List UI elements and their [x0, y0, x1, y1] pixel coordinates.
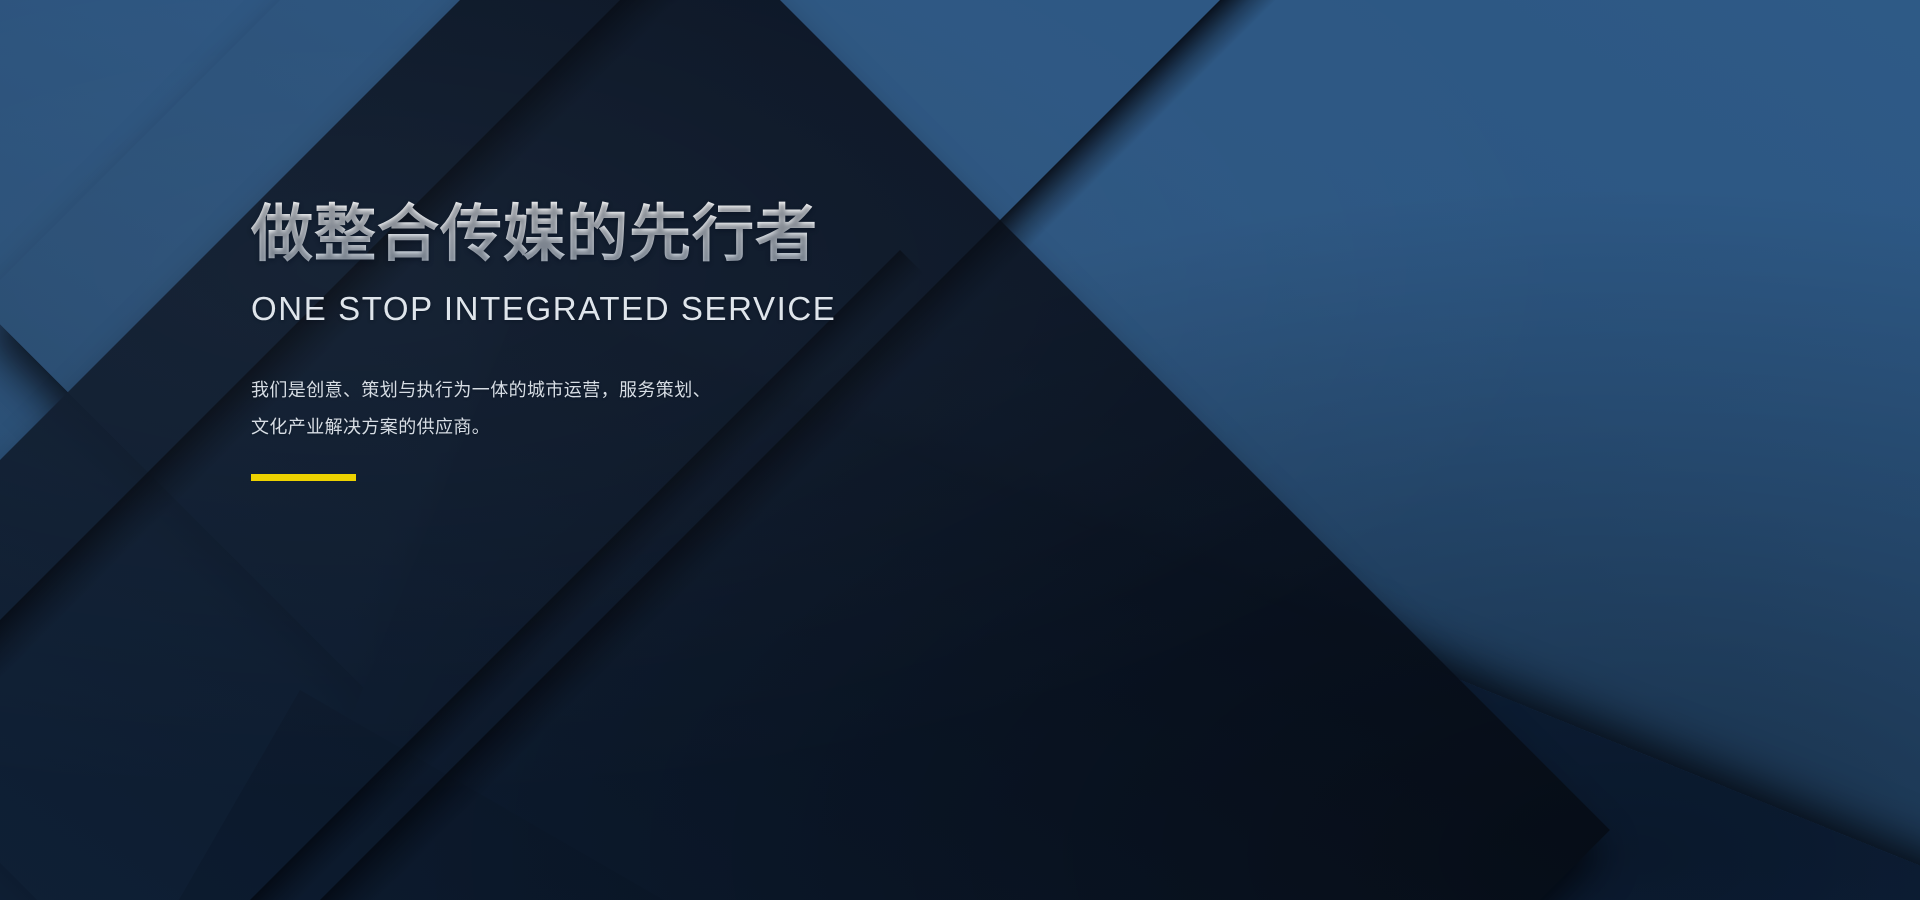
accent-rule: [251, 474, 356, 481]
hero-description: 我们是创意、策划与执行为一体的城市运营，服务策划、 文化产业解决方案的供应商。: [251, 372, 1011, 446]
hero-description-line-2: 文化产业解决方案的供应商。: [251, 409, 1011, 446]
hero-subheadline: ONE STOP INTEGRATED SERVICE: [251, 291, 1011, 327]
hero-banner: 做整合传媒的先行者 ONE STOP INTEGRATED SERVICE 我们…: [0, 0, 1920, 900]
hero-description-line-1: 我们是创意、策划与执行为一体的城市运营，服务策划、: [251, 372, 1011, 409]
hero-copy-block: 做整合传媒的先行者 ONE STOP INTEGRATED SERVICE 我们…: [251, 200, 1011, 481]
hero-headline: 做整合传媒的先行者: [251, 200, 1011, 269]
